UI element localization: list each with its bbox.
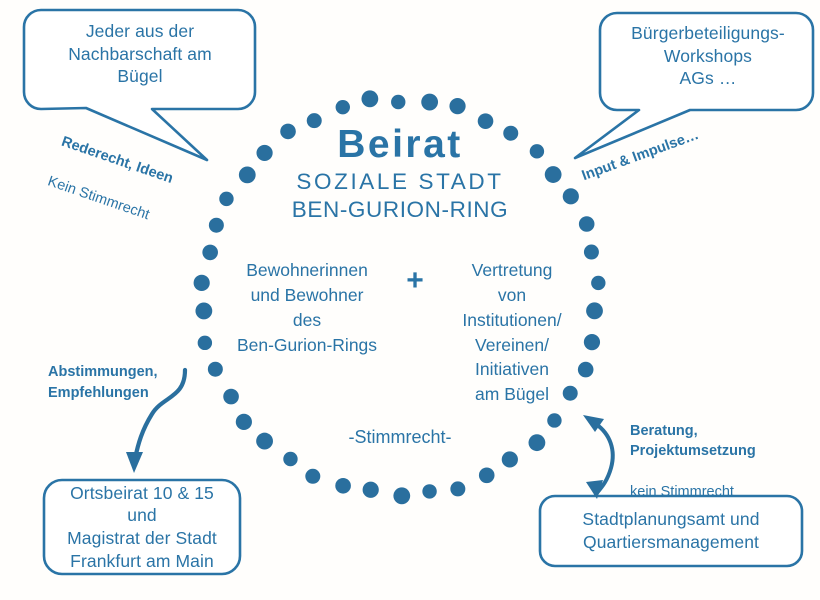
ring-dot: [393, 487, 410, 504]
annotation-beratung-bold: Beratung, Projektumsetzung: [630, 421, 756, 462]
center-title-block: Beirat SOZIALE STADT BEN-GURION-RING: [225, 125, 575, 223]
ring-dot: [449, 98, 465, 114]
ring-dot: [502, 451, 518, 467]
ring-dot: [450, 481, 465, 496]
column-institutions: Vertretung von Institutionen/ Vereinen/ …: [437, 258, 587, 407]
ring-dot: [361, 90, 378, 107]
ring-dot: [236, 414, 252, 430]
annotation-beratung: Beratung, Projektumsetzung kein Stimmrec…: [630, 400, 756, 523]
ring-dot: [335, 478, 351, 494]
annotation-beratung-regular: kein Stimmrecht: [630, 482, 756, 503]
center-columns: Bewohnerinnen und Bewohner des Ben-Gurio…: [206, 258, 602, 407]
speech-bubble-workshops-text: Bürgerbeteiligungs- Workshops AGs …: [608, 12, 808, 100]
ring-dot: [421, 94, 438, 111]
ring-dot: [336, 100, 350, 114]
ring-dot: [579, 216, 595, 232]
page-title: Beirat: [225, 125, 575, 166]
ring-dot: [422, 484, 436, 498]
page-subtitle-primary: SOZIALE STADT: [225, 168, 575, 196]
speech-bubble-neighbourhood-text: Jeder aus der Nachbarschaft am Bügel: [36, 10, 244, 98]
annotation-rederecht: Rederecht, Ideen Kein Stimmrecht: [38, 112, 183, 249]
annotation-abstimmungen: Abstimmungen, Empfehlungen: [48, 362, 158, 403]
annotation-input: Input & Impulse…: [579, 125, 702, 186]
box-ortsbeirat-text: Ortsbeirat 10 & 15 und Magistrat der Sta…: [44, 480, 240, 574]
page-subtitle-secondary: BEN-GURION-RING: [225, 196, 575, 223]
arrow-beratung: [583, 415, 613, 499]
ring-dot: [363, 482, 379, 498]
ring-dot: [305, 469, 320, 484]
ring-dot: [547, 413, 561, 427]
ring-dot: [529, 434, 546, 451]
ring-dot: [256, 433, 273, 450]
ring-dot: [479, 468, 495, 484]
diagram-canvas: Jeder aus der Nachbarschaft am Bügel Bür…: [0, 0, 820, 600]
center-footer-label: -Stimmrecht-: [275, 427, 525, 448]
column-residents: Bewohnerinnen und Bewohner des Ben-Gurio…: [221, 258, 393, 357]
plus-icon: +: [393, 258, 437, 296]
ring-dot: [391, 95, 405, 109]
ring-dot: [283, 452, 297, 466]
ring-dot: [209, 218, 224, 233]
